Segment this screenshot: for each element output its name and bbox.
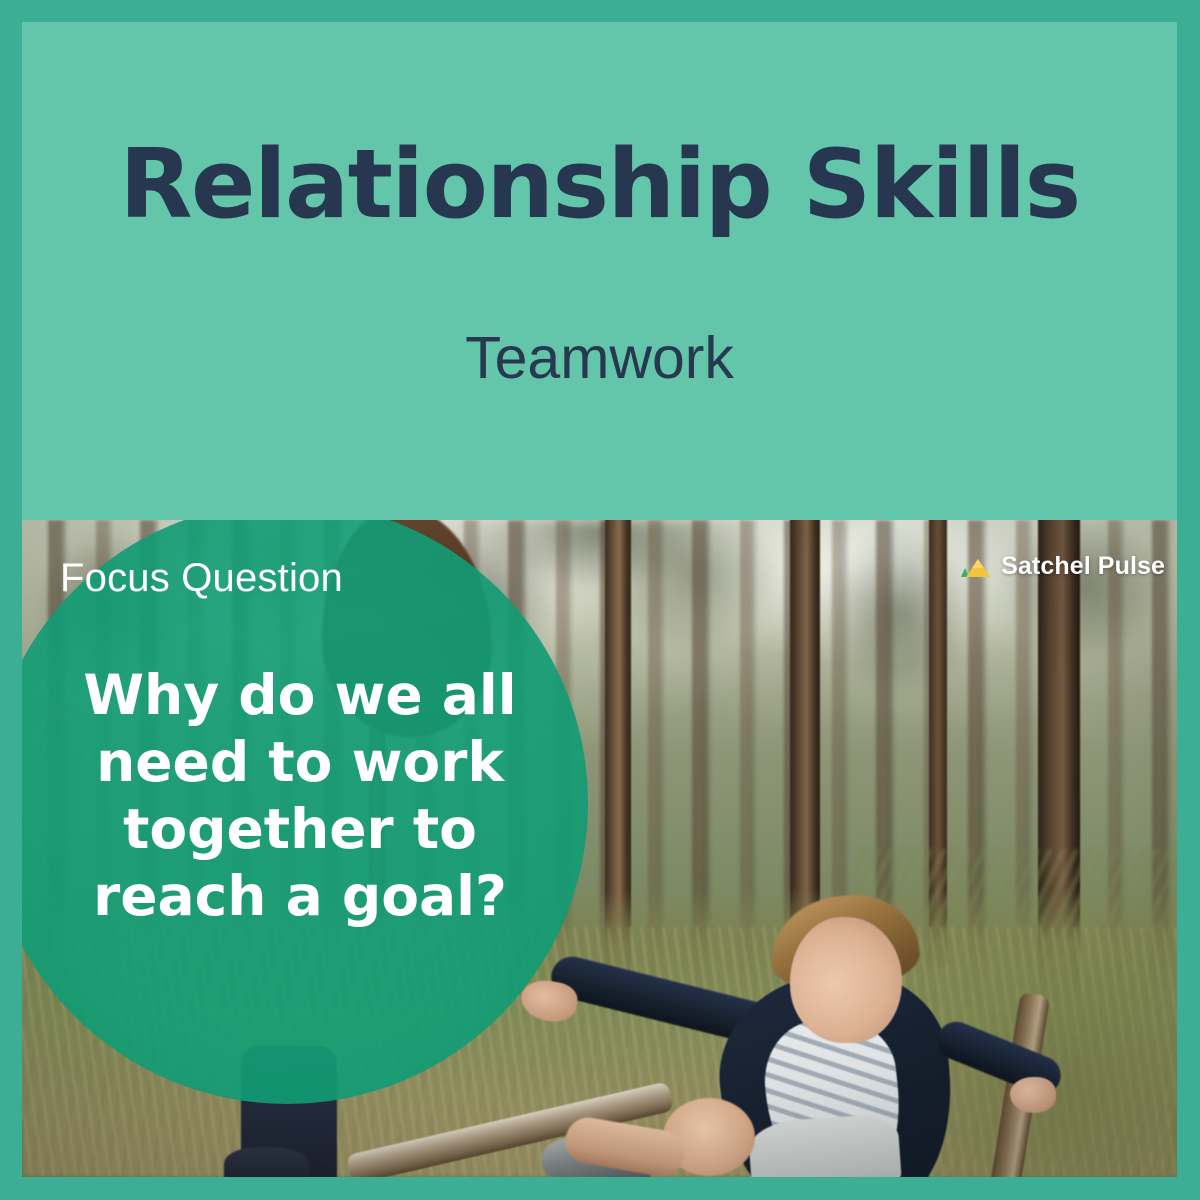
satchel-pulse-wordmark: Satchel Pulse	[1001, 552, 1165, 581]
photo-region: Focus Question Why do we all need to wor…	[22, 520, 1177, 1177]
header-block: Relationship Skills Teamwork	[22, 22, 1177, 520]
inner-panel: Relationship Skills Teamwork	[22, 22, 1177, 1177]
boy-right-hand	[1010, 1077, 1056, 1113]
focus-question-text: Why do we all need to work together to r…	[50, 662, 550, 930]
focus-question-label: Focus Question	[60, 556, 343, 601]
social-card: Relationship Skills Teamwork	[0, 0, 1200, 1200]
satchel-pulse-logo: Satchel Pulse	[960, 552, 1165, 581]
page-subtitle: Teamwork	[22, 233, 1177, 388]
satchel-pulse-triangle-icon	[960, 555, 994, 579]
boy-head	[790, 917, 902, 1043]
page-title: Relationship Skills	[22, 138, 1177, 233]
